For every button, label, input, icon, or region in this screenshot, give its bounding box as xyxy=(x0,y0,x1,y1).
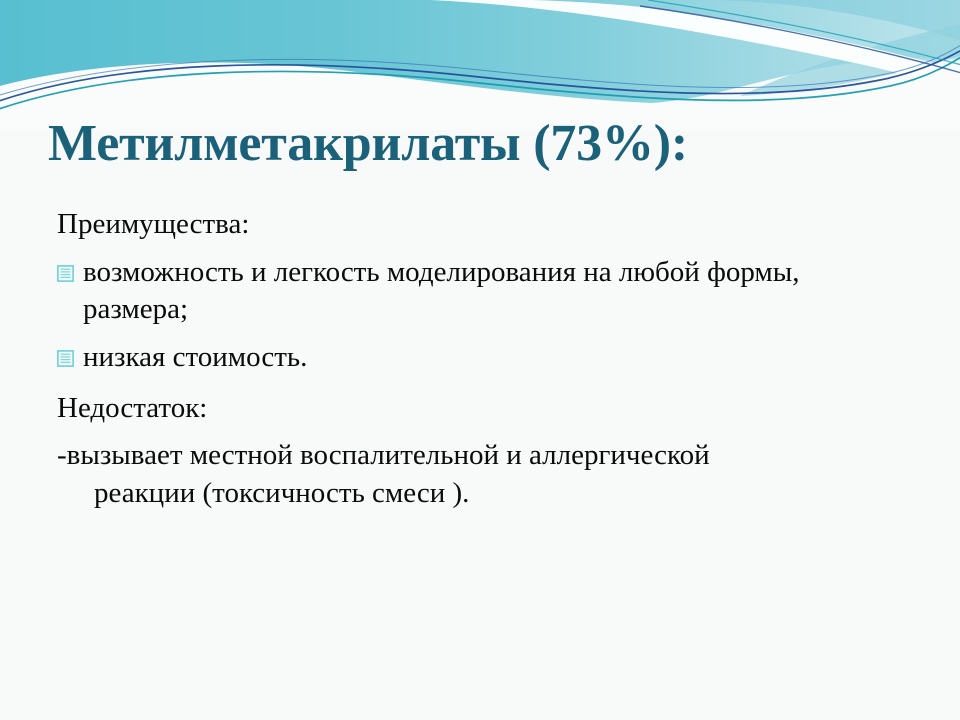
drawback-line-2: реакции (токсичность смеси ). xyxy=(57,475,888,513)
list-item: низкая стоимость. xyxy=(48,339,928,377)
advantages-heading: Преимущества: xyxy=(48,206,928,244)
body-content: Преимущества: возможность и легкость мод… xyxy=(48,206,928,516)
spacer xyxy=(48,332,928,339)
drawback-heading: Недостаток: xyxy=(48,390,928,428)
lined-square-bullet-icon xyxy=(57,265,74,282)
list-item-label: низкая стоимость. xyxy=(83,339,928,377)
banner-line-upper-teal xyxy=(648,0,960,66)
banner-band xyxy=(0,0,960,106)
banner-line-upper-navy xyxy=(640,6,960,74)
lined-square-bullet-icon xyxy=(57,350,74,367)
banner-lobe-right-lower xyxy=(740,24,960,96)
spacer xyxy=(48,247,928,254)
drawback-paragraph: -вызывает местной воспалительной и аллер… xyxy=(48,437,928,512)
banner-graphic xyxy=(0,0,960,130)
teal-wave-banner xyxy=(0,0,960,130)
spacer xyxy=(48,380,928,390)
slide: Метилметакрилаты (73%): Преимущества: во… xyxy=(0,0,960,720)
title-block: Метилметакрилаты (73%): xyxy=(48,116,918,172)
spacer xyxy=(48,430,928,437)
list-item-label: возможность и легкость моделирования на … xyxy=(83,254,928,329)
page-title: Метилметакрилаты (73%): xyxy=(48,116,918,172)
banner-lobe-right xyxy=(700,0,960,40)
banner-line-teal xyxy=(0,46,960,112)
banner-line-navy xyxy=(0,42,960,104)
banner-white-swoosh xyxy=(430,0,960,88)
list-item: возможность и легкость моделирования на … xyxy=(48,254,928,329)
drawback-line-1: -вызывает местной воспалительной и аллер… xyxy=(57,439,710,471)
banner-line-navy-thin xyxy=(0,36,960,98)
